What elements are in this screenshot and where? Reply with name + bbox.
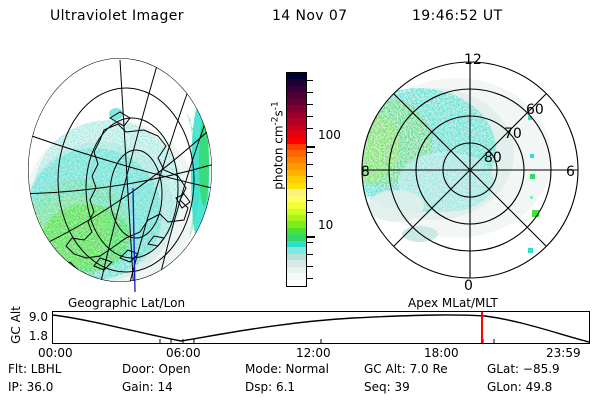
colorbar-major-tick: [307, 236, 315, 238]
apex-polar-plot-panel[interactable]: 12 6 0 18 60 70 80: [360, 42, 596, 294]
mlt-label-6: 6: [566, 164, 575, 180]
status-seq: Seq: 39: [364, 380, 410, 394]
status-dsp: Dsp: 6.1: [245, 380, 295, 394]
colorbar-minor-tick: [307, 152, 313, 153]
status-gain: Gain: 14: [122, 380, 173, 394]
colorbar-major-tick: [307, 146, 315, 148]
colorbar-minor-tick: [307, 242, 313, 243]
gc-altitude-timeline-panel[interactable]: Geographic Lat/Lon Apex MLat/MLT GC Alt …: [0, 296, 600, 356]
colorbar-minor-tick: [307, 212, 313, 213]
colorbar-segment: [287, 280, 306, 286]
timeline-ytick-bottom: 1.8: [29, 329, 48, 343]
geographic-projection-svg: [8, 42, 248, 294]
header-bar: Ultraviolet Imager 14 Nov 07 19:46:52 UT: [0, 4, 600, 30]
mlat-mlt-grid: [362, 62, 578, 278]
gc-altitude-plot-area[interactable]: [52, 311, 590, 344]
colorbar-minor-tick: [307, 278, 313, 279]
colorbar-minor-tick: [307, 128, 313, 129]
observation-time: 19:46:52 UT: [412, 8, 503, 24]
status-glat: GLat: −85.9: [487, 362, 560, 376]
mlat-label-70: 70: [504, 126, 522, 142]
colorbar-minor-tick: [307, 80, 313, 81]
timeline-xtick-0: 00:00: [38, 346, 73, 360]
apex-polar-svg: 12 6 0 18 60 70 80: [360, 42, 596, 294]
colorbar-axis-label: photon cm-2s-1: [271, 76, 286, 216]
observation-date: 14 Nov 07: [272, 8, 347, 24]
status-row-2: IP: 36.0 Gain: 14 Dsp: 6.1 Seq: 39 GLon:…: [0, 380, 600, 397]
timeline-y-ticks: 9.0 1.8: [12, 310, 48, 346]
gc-altitude-curve-svg: [53, 312, 589, 343]
timeline-ytick-top: 9.0: [29, 310, 48, 324]
colorbar-unit-mid: s: [272, 110, 286, 116]
status-filter: Flt: LBHL: [8, 362, 61, 376]
colorbar-minor-tick: [307, 266, 313, 267]
mlt-label-0: 0: [464, 278, 473, 294]
current-time-marker: [481, 312, 483, 343]
geographic-image-panel[interactable]: [8, 42, 248, 294]
colorbar-label-10: 10: [318, 218, 333, 232]
uvi-application-window: Ultraviolet Imager 14 Nov 07 19:46:52 UT: [0, 0, 600, 400]
status-readout-panel: Flt: LBHL Door: Open Mode: Normal GC Alt…: [0, 362, 600, 400]
status-row-1: Flt: LBHL Door: Open Mode: Normal GC Alt…: [0, 362, 600, 379]
timeline-x-axis-labels: 00:00 06:00 12:00 18:00 23:59: [0, 346, 600, 362]
colorbar-tick-marks: [307, 72, 315, 285]
colorbar-gradient: [286, 72, 307, 287]
apex-panel-caption: Apex MLat/MLT: [408, 296, 498, 310]
colorbar-unit-exp1: -2: [271, 116, 281, 125]
colorbar-minor-tick: [307, 104, 313, 105]
colorbar-minor-tick: [307, 176, 313, 177]
timeline-x-ticks: [160, 339, 494, 343]
status-glon: GLon: 49.8: [487, 380, 552, 394]
status-gc-alt: GC Alt: 7.0 Re: [364, 362, 448, 376]
colorbar-panel: photon cm-2s-1 100 10: [252, 60, 356, 295]
colorbar-minor-tick: [307, 188, 313, 189]
timeline-xtick-1: 06:00: [166, 346, 201, 360]
instrument-title: Ultraviolet Imager: [50, 8, 184, 24]
status-ip: IP: 36.0: [8, 380, 53, 394]
timeline-xtick-3: 18:00: [424, 346, 459, 360]
mlt-label-12: 12: [464, 52, 482, 68]
colorbar-minor-tick: [307, 164, 313, 165]
colorbar-minor-tick: [307, 116, 313, 117]
colorbar-minor-tick: [307, 200, 313, 201]
colorbar-minor-tick: [307, 254, 313, 255]
colorbar-label-100: 100: [318, 128, 341, 142]
timeline-xtick-2: 12:00: [296, 346, 331, 360]
geographic-panel-caption: Geographic Lat/Lon: [68, 296, 185, 310]
colorbar-unit-exp2: -1: [271, 101, 281, 110]
timeline-xtick-4: 23:59: [546, 346, 581, 360]
colorbar-unit-main: photon cm: [272, 125, 286, 189]
colorbar-minor-tick: [307, 92, 313, 93]
mlat-label-60: 60: [526, 102, 544, 118]
gc-altitude-curve: [53, 315, 589, 342]
mlat-label-80: 80: [484, 150, 502, 166]
mlt-label-18: 18: [360, 164, 370, 180]
status-door: Door: Open: [122, 362, 191, 376]
status-mode: Mode: Normal: [245, 362, 329, 376]
